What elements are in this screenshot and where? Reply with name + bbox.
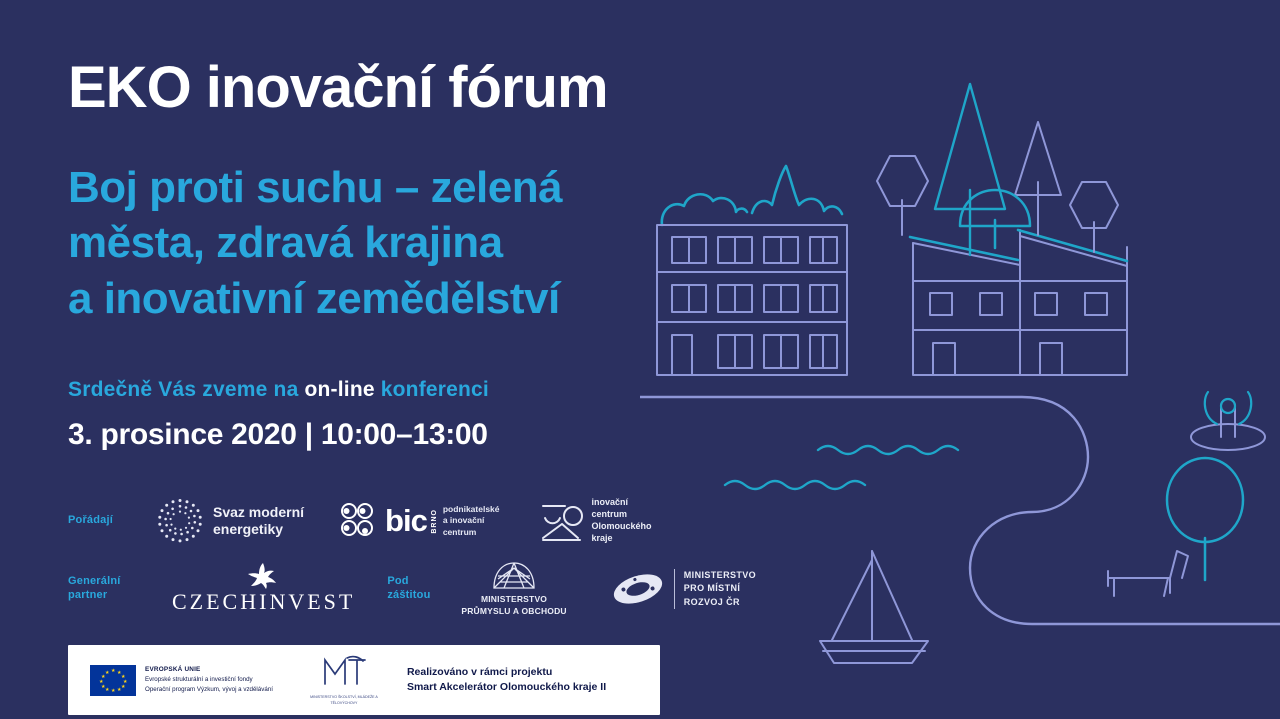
icok-line-2: centrum xyxy=(592,509,652,521)
subtitle-line-1: Boj proti suchu – zelená xyxy=(68,160,562,215)
icok-abstract-icon xyxy=(540,498,584,544)
mmr-line-3: ROZVOJ ČR xyxy=(684,596,756,609)
logo-svaz-moderni-energetiky: Svaz moderní energetiky xyxy=(156,497,304,545)
eu-heading: EVROPSKÁ UNIE xyxy=(145,665,273,675)
project-line-2: Smart Akcelerátor Olomouckého kraje II xyxy=(407,680,606,695)
page-subtitle: Boj proti suchu – zelená města, zdravá k… xyxy=(68,160,562,326)
subtitle-line-3: a inovativní zemědělství xyxy=(68,271,562,326)
invite-suffix: konferenci xyxy=(375,378,489,401)
logo-czechinvest: CZECHINVEST xyxy=(172,563,355,615)
conifer-tree-icon xyxy=(1015,122,1061,235)
logo-bic-brno: bic BRNO podnikatelské a inovační centru… xyxy=(340,501,499,541)
organizers-label: Pořádají xyxy=(68,514,150,528)
icok-line-3: Olomouckého xyxy=(592,521,652,533)
fountain-icon xyxy=(1191,392,1265,450)
mpo-label: MINISTERSTVO PRŮMYSLU A OBCHODU xyxy=(461,594,566,616)
invite-text: Srdečně Vás zveme na on-line konferenci xyxy=(68,378,489,402)
apartment-building-icon xyxy=(657,225,847,375)
green-roof-icon xyxy=(662,166,842,225)
hexagon-tree-icon xyxy=(1070,182,1118,252)
svaz-moderni-energetiky-label: Svaz moderní energetiky xyxy=(213,504,304,538)
czechinvest-cross-icon xyxy=(247,563,281,589)
water-waves-icon xyxy=(725,446,958,489)
under-auspices-label: Pod záštitou xyxy=(387,575,449,603)
poster-canvas: EKO inovační fórum Boj proti suchu – zel… xyxy=(0,0,1280,719)
general-partner-label: Generální partner xyxy=(68,575,150,603)
bic-sub-2: a inovační xyxy=(443,515,500,526)
logo-ministerstvo-pro-mistni-rozvoj: MINISTERSTVO PRO MÍSTNÍ ROZVOJ ČR xyxy=(611,569,756,608)
sme-line-2: energetiky xyxy=(213,521,304,538)
msmt-logo: MINISTERSTVO ŠKOLSTVÍ, MLÁDEŽE A TĚLOVÝC… xyxy=(307,654,381,705)
event-datetime: 3. prosince 2020 | 10:00–13:00 xyxy=(68,418,488,452)
eu-flag-icon: ★ ★ ★ ★ ★ ★ ★ ★ ★ ★ ★ ★ xyxy=(90,665,136,696)
invite-highlight: on-line xyxy=(305,378,375,401)
icok-line-4: kraje xyxy=(592,533,652,545)
mpo-dome-icon xyxy=(492,561,536,591)
eu-funding-text: EVROPSKÁ UNIE Evropské strukturální a in… xyxy=(145,665,273,695)
logo-inovacni-centrum-olomouckeho-kraje: inovační centrum Olomouckého kraje xyxy=(540,497,652,545)
dotted-ring-icon xyxy=(156,497,204,545)
page-title: EKO inovační fórum xyxy=(68,58,608,119)
invite-prefix: Srdečně Vás zveme na xyxy=(68,378,305,401)
mmr-line-1: MINISTERSTVO xyxy=(684,569,756,582)
bic-dots-icon xyxy=(340,501,380,541)
mpo-line-1: MINISTERSTVO xyxy=(461,594,566,605)
bic-brno-vertical: BRNO xyxy=(431,509,438,534)
msmt-logo-icon xyxy=(319,654,369,688)
bic-sub-1: podnikatelské xyxy=(443,504,500,515)
mpo-line-2: PRŮMYSLU A OBCHODU xyxy=(461,606,566,617)
msmt-subtitle: MINISTERSTVO ŠKOLSTVÍ, MLÁDEŽE A TĚLOVÝC… xyxy=(307,695,381,705)
icok-label: inovační centrum Olomouckého kraje xyxy=(592,497,652,545)
mmr-ellipse-icon xyxy=(611,572,665,606)
sme-line-1: Svaz moderní xyxy=(213,504,304,521)
partners-row: Generální partner CZECHINVEST Pod záštit… xyxy=(68,558,756,620)
hexagon-tree-icon xyxy=(877,156,928,235)
czechinvest-wordmark: CZECHINVEST xyxy=(172,589,355,615)
eu-funding-banner: ★ ★ ★ ★ ★ ★ ★ ★ ★ ★ ★ ★ EVROPSKÁ UNIE Ev… xyxy=(68,645,660,715)
project-line-1: Realizováno v rámci projektu xyxy=(407,665,606,680)
icok-line-1: inovační xyxy=(592,497,652,509)
mmr-line-2: PRO MÍSTNÍ xyxy=(684,582,756,595)
organizers-row: Pořádají xyxy=(68,492,652,550)
mmr-label: MINISTERSTVO PRO MÍSTNÍ ROZVOJ ČR xyxy=(674,569,756,608)
eu-line-2: Operační program Výzkum, vývoj a vzděláv… xyxy=(145,685,273,695)
logo-ministerstvo-prumyslu-a-obchodu: MINISTERSTVO PRŮMYSLU A OBCHODU xyxy=(461,561,566,616)
bic-wordmark: bic xyxy=(385,508,427,534)
bic-subtitle: podnikatelské a inovační centrum xyxy=(443,504,500,538)
subtitle-line-2: města, zdravá krajina xyxy=(68,215,562,270)
project-text: Realizováno v rámci projektu Smart Akcel… xyxy=(407,665,606,695)
sailboat-icon xyxy=(820,551,928,663)
round-tree-icon xyxy=(1167,458,1243,580)
lounge-chair-icon xyxy=(1108,551,1188,596)
eu-line-1: Evropské strukturální a investiční fondy xyxy=(145,675,273,685)
bic-sub-3: centrum xyxy=(443,527,500,538)
